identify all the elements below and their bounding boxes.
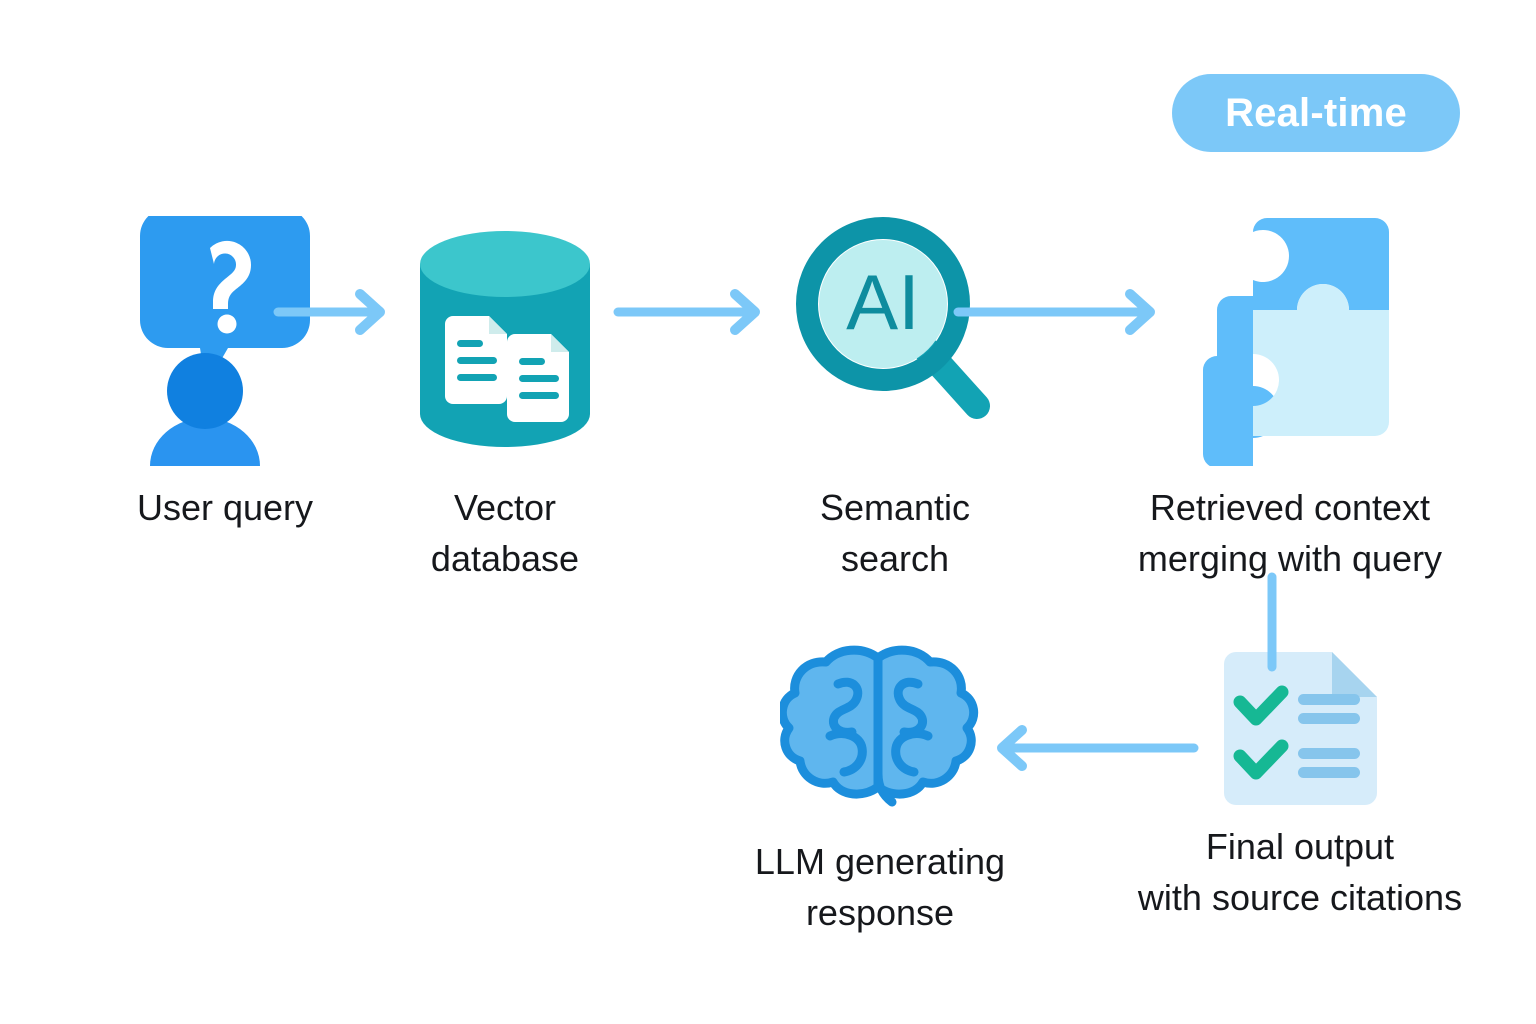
arrow-vector-database-to-semantic-search bbox=[612, 286, 767, 338]
database-cylinder-icon bbox=[405, 216, 605, 466]
connector-retrieved-context-to-final-output bbox=[1262, 572, 1282, 672]
ai-magnifier-text: AI bbox=[846, 258, 920, 346]
node-user-query: User query bbox=[60, 216, 390, 533]
node-user-query-label: User query bbox=[137, 482, 313, 533]
node-final-output-label: Final output with source citations bbox=[1138, 821, 1462, 923]
node-semantic-search-label: Semantic search bbox=[820, 482, 970, 584]
node-retrieved-context-label: Retrieved context merging with query bbox=[1138, 482, 1442, 584]
checklist-document-icon bbox=[1218, 650, 1383, 805]
node-vector-database: Vector database bbox=[350, 216, 660, 584]
real-time-badge: Real-time bbox=[1172, 74, 1460, 152]
node-llm-response-label: LLM generating response bbox=[755, 836, 1005, 938]
node-final-output: Final output with source citations bbox=[1105, 650, 1495, 923]
arrow-semantic-search-to-retrieved-context bbox=[952, 286, 1162, 338]
node-retrieved-context: Retrieved context merging with query bbox=[1090, 216, 1490, 584]
puzzle-pieces-icon bbox=[1183, 216, 1398, 466]
node-semantic-search: AI Semantic search bbox=[745, 216, 1045, 584]
diagram-canvas: Real-time User query bbox=[0, 0, 1536, 1024]
arrow-final-output-to-llm-response bbox=[990, 722, 1200, 774]
real-time-badge-label: Real-time bbox=[1225, 93, 1407, 133]
node-vector-database-label: Vector database bbox=[431, 482, 579, 584]
brain-icon bbox=[780, 640, 980, 820]
user-question-icon bbox=[130, 216, 320, 466]
node-llm-response: LLM generating response bbox=[700, 640, 1060, 938]
ai-magnifier-icon: AI bbox=[795, 216, 995, 466]
arrow-user-query-to-vector-database bbox=[272, 286, 392, 338]
